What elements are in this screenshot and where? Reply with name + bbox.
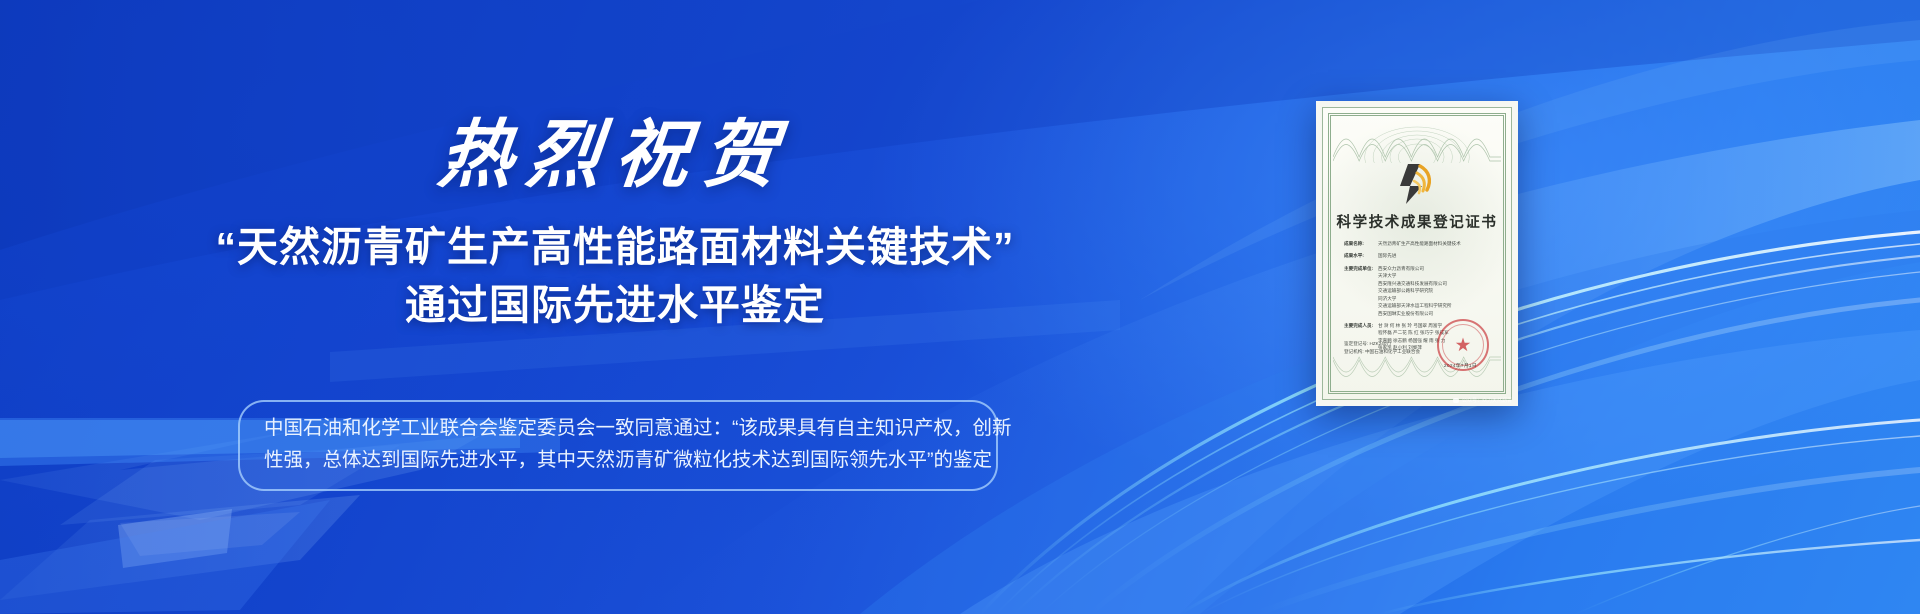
certificate-row: 成果水平: 国际先进 [1344, 252, 1495, 259]
congratulations-headline: 热烈祝贺 [0, 118, 1234, 192]
unit-item: 西安国琳实业股份有限公司 [1378, 310, 1495, 317]
certificate-paper: 科学技术成果登记证书 成果名称: 天然沥青矿生产高性能路面材料关键技术 成果水平… [1322, 107, 1512, 400]
watermark-text: 公众号：众力天然沥青 [1462, 397, 1512, 404]
unit-item: 西安隆兴通交通科技发展有限公司 [1378, 280, 1495, 287]
description-line-2: 性强，总体达到国际先进水平，其中天然沥青矿微粒化技术达到国际领先水平”的鉴定 [264, 445, 972, 477]
field-value: 天然沥青矿生产高性能路面材料关键技术 [1378, 240, 1495, 247]
registration-number-value: HZK24077 [1370, 341, 1392, 346]
guilloche-pattern-top [1333, 117, 1501, 163]
unit-item: 天津大学 [1378, 272, 1495, 279]
field-label: 主要完成单位: [1344, 265, 1378, 317]
emblem-icon [1396, 160, 1438, 206]
unit-item: 同济大学 [1378, 295, 1495, 302]
description-box: 中国石油和化学工业联合会鉴定委员会一致同意通过：“该成果具有自主知识产权，创新 … [238, 400, 998, 491]
promotional-banner: 热烈祝贺 “天然沥青矿生产高性能路面材料关键技术” 通过国际先进水平鉴定 中国石… [0, 0, 1920, 614]
certificate-row: 成果名称: 天然沥青矿生产高性能路面材料关键技术 [1344, 240, 1495, 247]
authority-label: 登记机构: [1344, 349, 1364, 354]
unit-item: 交通运输部公路科学研究院 [1378, 287, 1495, 294]
field-value: 国际先进 [1378, 252, 1495, 259]
page-title: “天然沥青矿生产高性能路面材料关键技术” 通过国际先进水平鉴定 [0, 218, 1230, 334]
field-value: 西安众力沥青有限公司 天津大学 西安隆兴通交通科技发展有限公司 交通运输部公路科… [1378, 265, 1495, 317]
authority-value: 中国石油和化学工业联合会 [1365, 349, 1420, 354]
watermark: 公众号：众力天然沥青 [1453, 397, 1512, 404]
unit-item: 交通运输部天津水运工程科学研究所 [1378, 302, 1495, 309]
certificate-image: 科学技术成果登记证书 成果名称: 天然沥青矿生产高性能路面材料关键技术 成果水平… [1316, 101, 1518, 406]
wechat-icon [1453, 398, 1459, 403]
banner-content: 热烈祝贺 “天然沥青矿生产高性能路面材料关键技术” 通过国际先进水平鉴定 中国石… [0, 0, 1230, 614]
official-seal-icon [1437, 319, 1489, 371]
title-line-2: 通过国际先进水平鉴定 [0, 276, 1230, 334]
title-line-1: “天然沥青矿生产高性能路面材料关键技术” [216, 224, 1015, 270]
description-line-1: 中国石油和化学工业联合会鉴定委员会一致同意通过：“该成果具有自主知识产权，创新 [264, 413, 972, 445]
seal-inner-ring [1442, 324, 1484, 366]
field-label: 成果名称: [1344, 240, 1378, 247]
registration-number-label: 鉴定登记号: [1344, 341, 1368, 346]
certificate-row: 主要完成单位: 西安众力沥青有限公司 天津大学 西安隆兴通交通科技发展有限公司 … [1344, 265, 1495, 317]
certificate-title: 科学技术成果登记证书 [1323, 211, 1511, 232]
field-label: 成果水平: [1344, 252, 1378, 259]
unit-item: 西安众力沥青有限公司 [1378, 265, 1495, 272]
